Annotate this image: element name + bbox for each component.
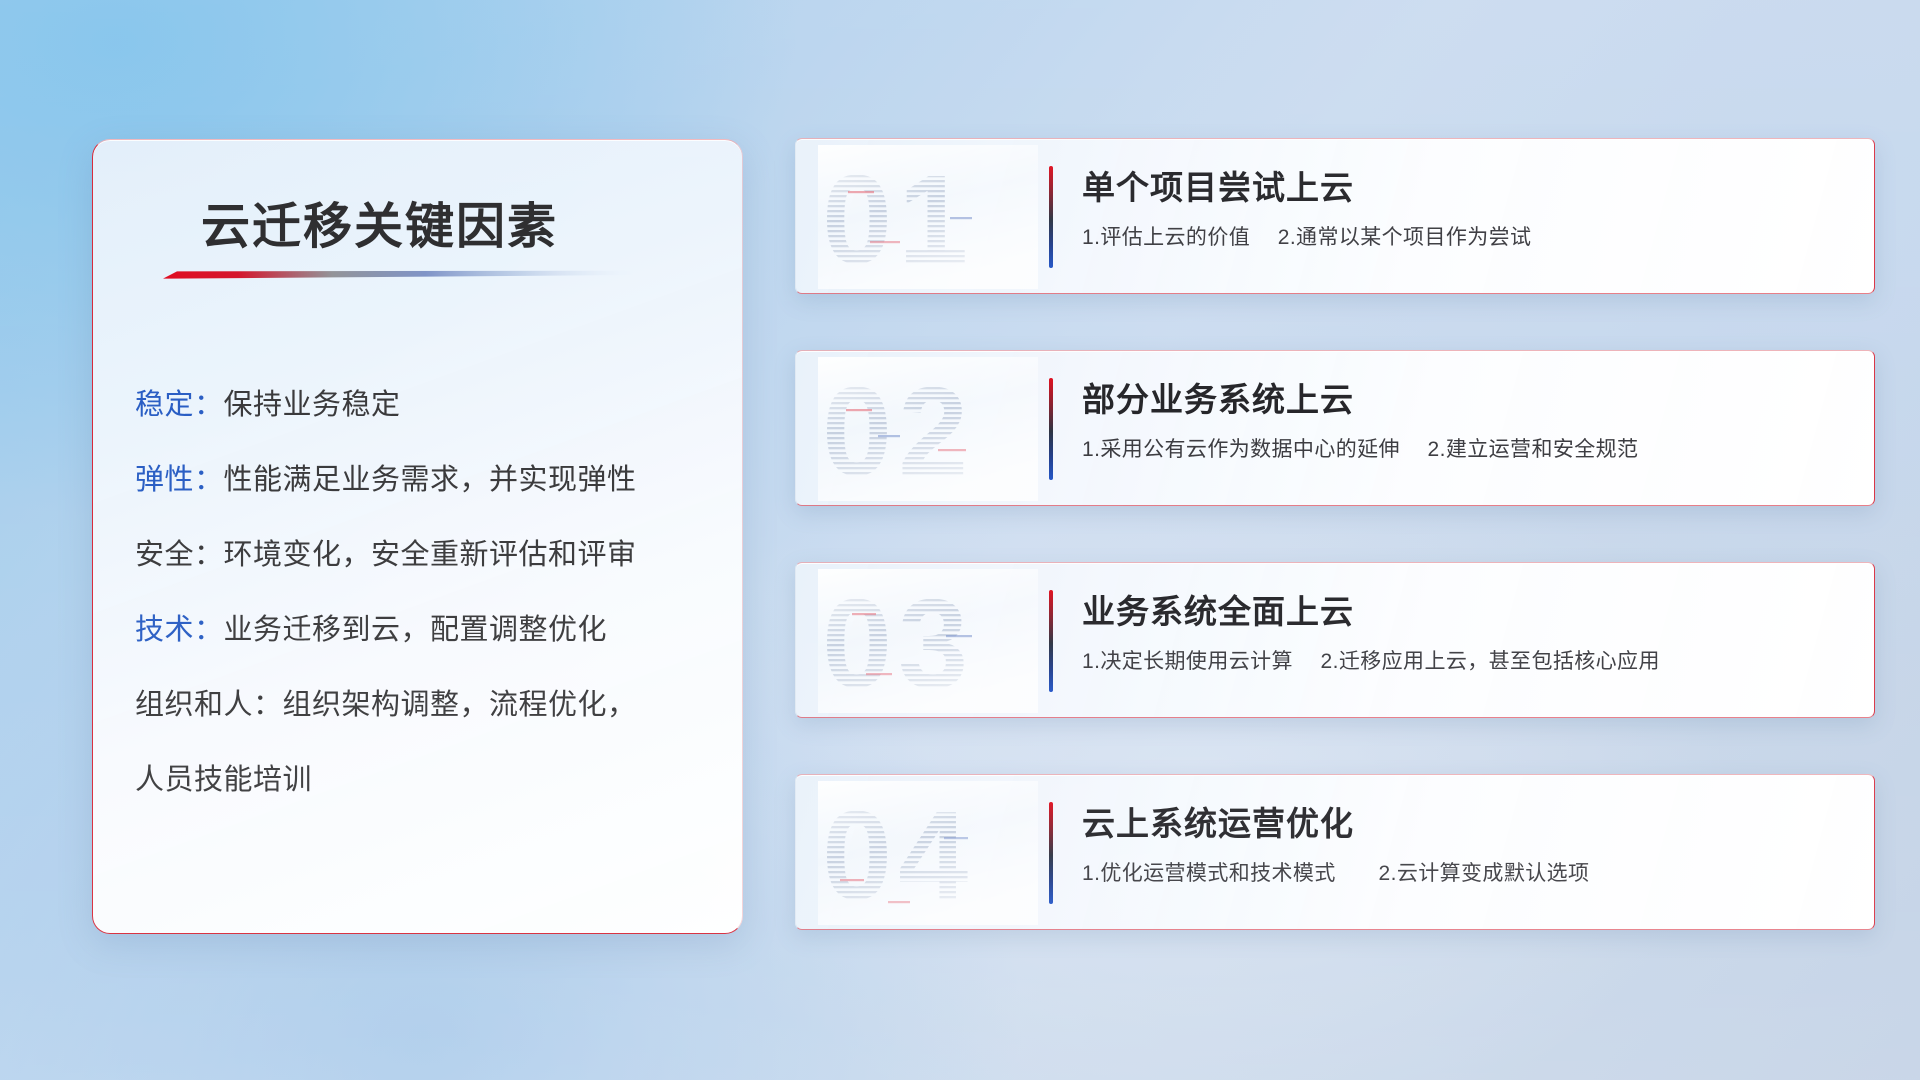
card-description: 1.采用公有云作为数据中心的延伸 2.建立运营和安全规范 bbox=[1082, 433, 1638, 463]
list-item: 弹性：性能满足业务需求，并实现弹性 bbox=[135, 443, 715, 518]
list-item-text: 人员技能培训 bbox=[135, 764, 312, 796]
card-description: 1.决定长期使用云计算 2.迁移应用上云，甚至包括核心应用 bbox=[1082, 645, 1660, 675]
stage-number-01: 01 bbox=[818, 145, 1038, 289]
card-description: 1.评估上云的价值 2.通常以某个项目作为尝试 bbox=[1082, 221, 1531, 251]
stage-number-03: 03 bbox=[818, 569, 1038, 713]
page-title: 云迁移关键因素 bbox=[201, 187, 558, 258]
stage-card-list: 01 单个项目尝试上云 1.评估上云的价值 2.通常以某个项目作为尝试 bbox=[795, 138, 1875, 930]
card-title: 云上系统运营优化 bbox=[1082, 797, 1354, 845]
stage-card[interactable]: 03 业务系统全面上云 1.决定长期使用云计算 2.迁移应用上云，甚至包括核心应… bbox=[795, 562, 1875, 718]
list-item-text: 环境变化，安全重新评估和评审 bbox=[224, 539, 637, 571]
stage-card[interactable]: 02 部分业务系统上云 1.采用公有云作为数据中心的延伸 2.建立运营和安全规范 bbox=[795, 350, 1875, 506]
stage-card[interactable]: 01 单个项目尝试上云 1.评估上云的价值 2.通常以某个项目作为尝试 bbox=[795, 138, 1875, 294]
list-item-continuation: 人员技能培训 bbox=[135, 743, 715, 818]
list-item-key: 弹性： bbox=[135, 464, 224, 496]
card-accent-rule bbox=[1049, 166, 1053, 268]
card-title: 单个项目尝试上云 bbox=[1082, 161, 1354, 209]
list-item-text: 组织架构调整，流程优化， bbox=[283, 689, 637, 721]
list-item-key: 技术： bbox=[135, 614, 224, 646]
list-item: 技术：业务迁移到云，配置调整优化 bbox=[135, 593, 715, 668]
card-title: 部分业务系统上云 bbox=[1082, 373, 1354, 421]
key-factors-panel: 云迁移关键因素 稳定：保持业务稳定 bbox=[92, 139, 743, 934]
slide-canvas: 云迁移关键因素 稳定：保持业务稳定 bbox=[0, 0, 1920, 1080]
card-title: 业务系统全面上云 bbox=[1082, 585, 1354, 633]
list-item-key: 安全： bbox=[135, 539, 224, 571]
stage-number-02: 02 bbox=[818, 357, 1038, 501]
list-item-key: 稳定： bbox=[135, 389, 224, 421]
stage-card[interactable]: 04 云上系统运营优化 1.优化运营模式和技术模式 2.云计算变成默认选项 bbox=[795, 774, 1875, 930]
title-underline-decoration bbox=[163, 270, 633, 279]
card-accent-rule bbox=[1049, 590, 1053, 692]
card-accent-rule bbox=[1049, 378, 1053, 480]
card-description: 1.优化运营模式和技术模式 2.云计算变成默认选项 bbox=[1082, 857, 1589, 887]
list-item: 稳定：保持业务稳定 bbox=[135, 368, 715, 443]
list-item-text: 保持业务稳定 bbox=[224, 389, 401, 421]
list-item: 组织和人：组织架构调整，流程优化， bbox=[135, 668, 715, 743]
list-item: 安全：环境变化，安全重新评估和评审 bbox=[135, 518, 715, 593]
card-accent-rule bbox=[1049, 802, 1053, 904]
list-item-text: 性能满足业务需求，并实现弹性 bbox=[224, 464, 637, 496]
key-factors-list: 稳定：保持业务稳定 弹性：性能满足业务需求，并实现弹性 安全：环境变化，安全重新… bbox=[135, 368, 715, 818]
stage-number-04: 04 bbox=[818, 781, 1038, 925]
list-item-key: 组织和人： bbox=[135, 689, 283, 721]
list-item-text: 业务迁移到云，配置调整优化 bbox=[224, 614, 608, 646]
